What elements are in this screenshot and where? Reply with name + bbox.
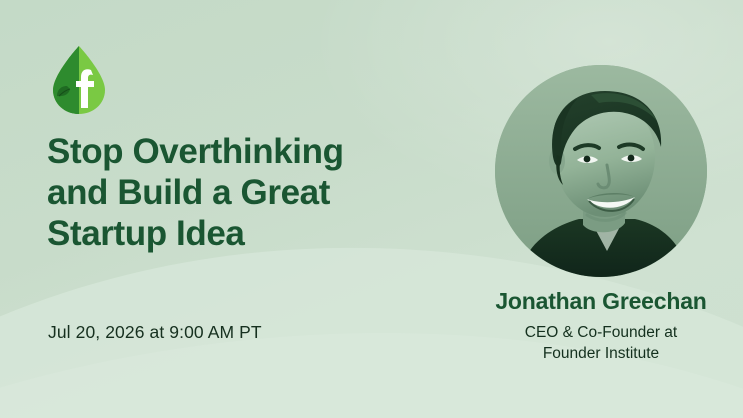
- event-datetime: Jul 20, 2026 at 9:00 AM PT: [48, 322, 262, 343]
- founder-institute-logo-icon: [47, 44, 111, 116]
- speaker-role-line-2: Founder Institute: [455, 343, 743, 364]
- headline-line-1: Stop Overthinking: [47, 132, 437, 173]
- speaker-avatar: [495, 65, 707, 277]
- speaker-role-line-1: CEO & Co-Founder at: [455, 322, 743, 343]
- headline-line-2: and Build a Great: [47, 173, 437, 214]
- promo-banner: Stop Overthinking and Build a Great Star…: [0, 0, 743, 418]
- speaker-role: CEO & Co-Founder at Founder Institute: [455, 322, 743, 365]
- headline-line-3: Startup Idea: [47, 214, 437, 255]
- speaker-info: Jonathan Greechan CEO & Co-Founder at Fo…: [455, 288, 743, 364]
- speaker-name: Jonathan Greechan: [455, 288, 743, 316]
- page-title: Stop Overthinking and Build a Great Star…: [47, 132, 437, 255]
